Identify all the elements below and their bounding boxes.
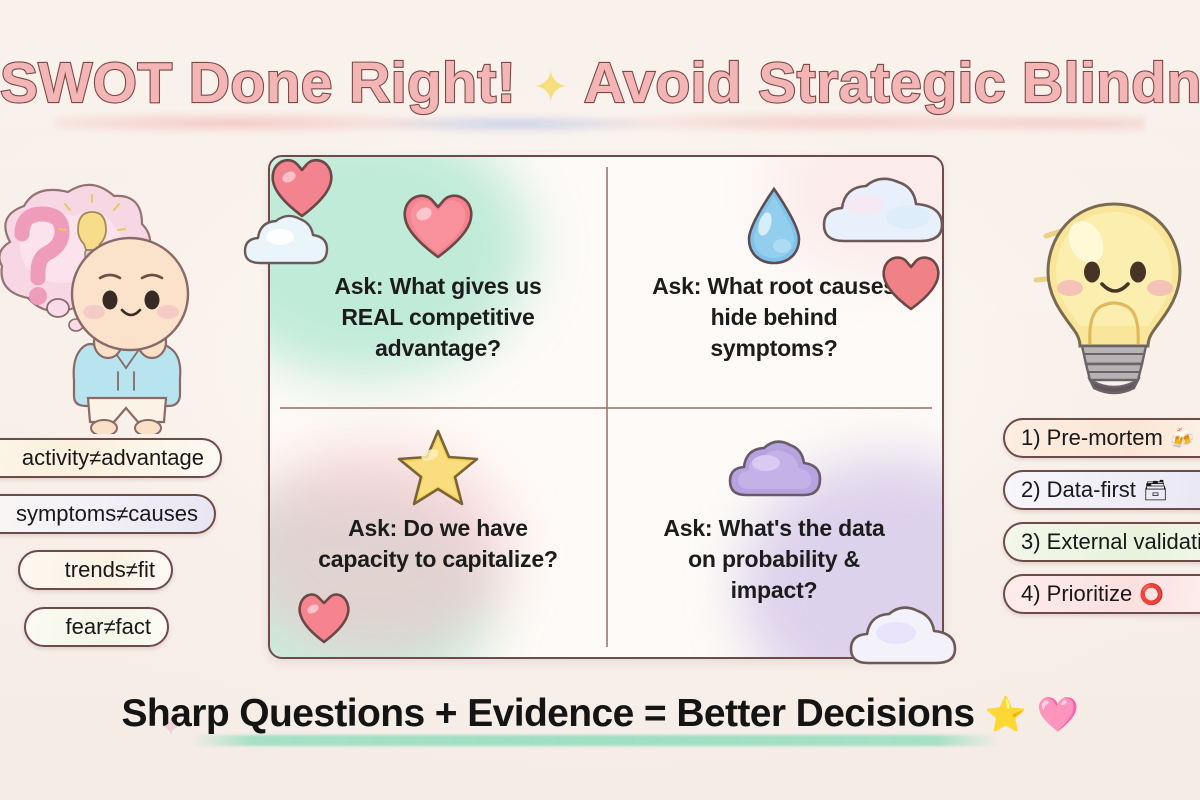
lightbulb-face-icon [1028,188,1200,400]
quadrant-strengths-text: Ask: What gives us REAL competitive adva… [311,271,566,364]
heart-icon: 🩷 [1037,696,1079,734]
action-pill-label: 1) Pre-mortem [1021,425,1163,451]
action-pill-label: 3) External validation [1021,529,1200,555]
droplet-icon [743,183,805,267]
card-index-icon: 🗃 [1143,478,1168,503]
title-left-text: SWOT Done Right! [0,51,516,115]
title-right-text: Avoid Strategic Blindness [584,51,1200,115]
character-face-icon [72,238,188,350]
myth-pill-trends-fit[interactable]: trends≠fit [18,550,173,590]
sparkle-icon-left: ✦ [160,712,182,743]
action-pill-prioritize[interactable]: 4) Prioritize ⭕ [1003,574,1200,614]
star-icon [396,425,480,509]
beer-icon: 🍻 [1170,426,1195,451]
mascot-character [0,182,232,434]
myth-pill-label: fear≠fact [66,614,151,640]
target-icon: ⭕ [1139,582,1164,607]
quadrant-opportunities-text: Ask: Do we have capacity to capitalize? [311,513,566,575]
action-pill-pre-mortem[interactable]: 1) Pre-mortem 🍻 [1003,418,1200,458]
sparkle-icon: ✦ [532,63,569,112]
quadrant-threats-text: Ask: What's the data on probability & im… [647,513,902,606]
heart-icon [399,183,477,267]
quadrant-strengths[interactable]: Ask: What gives us REAL competitive adva… [270,157,606,407]
header: SWOT Done Right! ✦ Avoid Strategic Blind… [0,46,1200,126]
action-pill-data-first[interactable]: 2) Data-first 🗃 [1003,470,1200,510]
myth-pill-label: activity≠advantage [22,445,204,471]
quadrant-threats[interactable]: Ask: What's the data on probability & im… [606,407,942,657]
quadrant-opportunities[interactable]: Ask: Do we have capacity to capitalize? [270,407,606,657]
footer-slogan: Sharp Questions + Evidence = Better Deci… [122,692,975,735]
myth-pill-activity-advantage[interactable]: activity≠advantage [0,438,222,478]
myth-pill-label: symptoms≠causes [16,501,198,527]
myth-pill-symptoms-causes[interactable]: symptoms≠causes [0,494,216,534]
star-icon: ⭐ [985,696,1027,734]
myth-pill-fear-fact[interactable]: fear≠fact [24,607,169,647]
quadrant-weaknesses-text: Ask: What root causes hide behind sympto… [647,271,902,364]
action-pill-external-validation[interactable]: 3) External validation [1003,522,1200,562]
swot-matrix-card: Ask: What gives us REAL competitive adva… [268,155,944,659]
quadrant-weaknesses[interactable]: Ask: What root causes hide behind sympto… [606,157,942,407]
myth-pill-label: trends≠fit [65,557,155,583]
page-title: SWOT Done Right! ✦ Avoid Strategic Blind… [0,46,1200,125]
poster-canvas: SWOT Done Right! ✦ Avoid Strategic Blind… [0,0,1200,800]
mascot-lightbulb [1028,188,1200,400]
footer: Sharp Questions + Evidence = Better Deci… [0,686,1200,766]
kawaii-character-icon [0,182,232,434]
action-pill-label: 4) Prioritize [1021,581,1132,607]
action-pill-label: 2) Data-first [1021,477,1136,503]
cloud-icon [722,425,826,509]
